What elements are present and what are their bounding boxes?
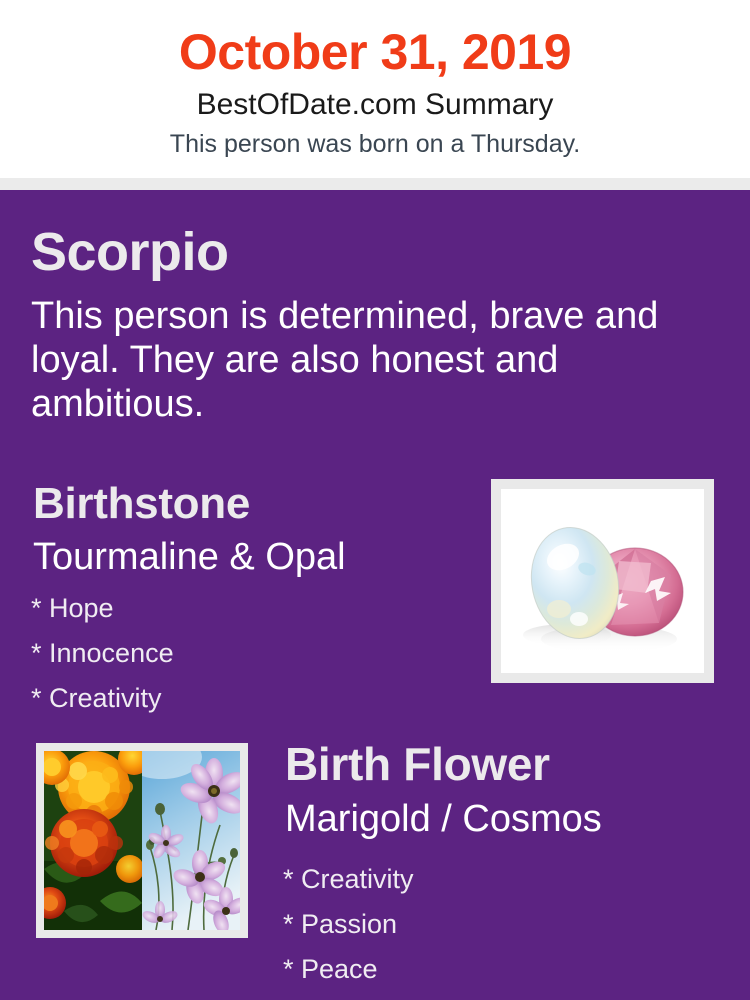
list-item: * Creativity [283,857,703,902]
site-summary-label: BestOfDate.com Summary [0,86,750,124]
birthstone-heading: Birthstone [33,478,250,530]
gemstones-illustration [501,489,704,673]
birth-flower-heading: Birth Flower [285,737,550,791]
list-item: * Creativity [31,676,451,721]
marigold-illustration [44,751,142,930]
page-title-date: October 31, 2019 [0,22,750,82]
birthstone-name: Tourmaline & Opal [33,534,346,580]
list-item: * Hope [31,586,451,631]
born-day-note: This person was born on a Thursday. [0,128,750,160]
zodiac-description: This person is determined, brave and loy… [31,294,701,426]
birth-flower-image [44,751,240,930]
marigold-photo-half [44,751,142,930]
list-item: * Innocence [31,631,451,676]
birth-flower-image-frame [36,743,248,938]
birth-flower-trait-list: * Creativity * Passion * Peace [283,857,703,992]
cosmos-illustration [142,751,240,930]
zodiac-sign-title: Scorpio [31,222,229,282]
birth-flower-name: Marigold / Cosmos [285,796,602,842]
cosmos-photo-half [142,751,240,930]
list-item: * Passion [283,902,703,947]
header-divider [0,178,750,190]
list-item: * Peace [283,947,703,992]
birthstone-image [501,489,704,673]
header: October 31, 2019 BestOfDate.com Summary … [0,0,750,178]
birthstone-trait-list: * Hope * Innocence * Creativity [31,586,451,721]
birthday-summary-infographic: October 31, 2019 BestOfDate.com Summary … [0,0,750,1000]
birthstone-image-frame [491,479,714,683]
